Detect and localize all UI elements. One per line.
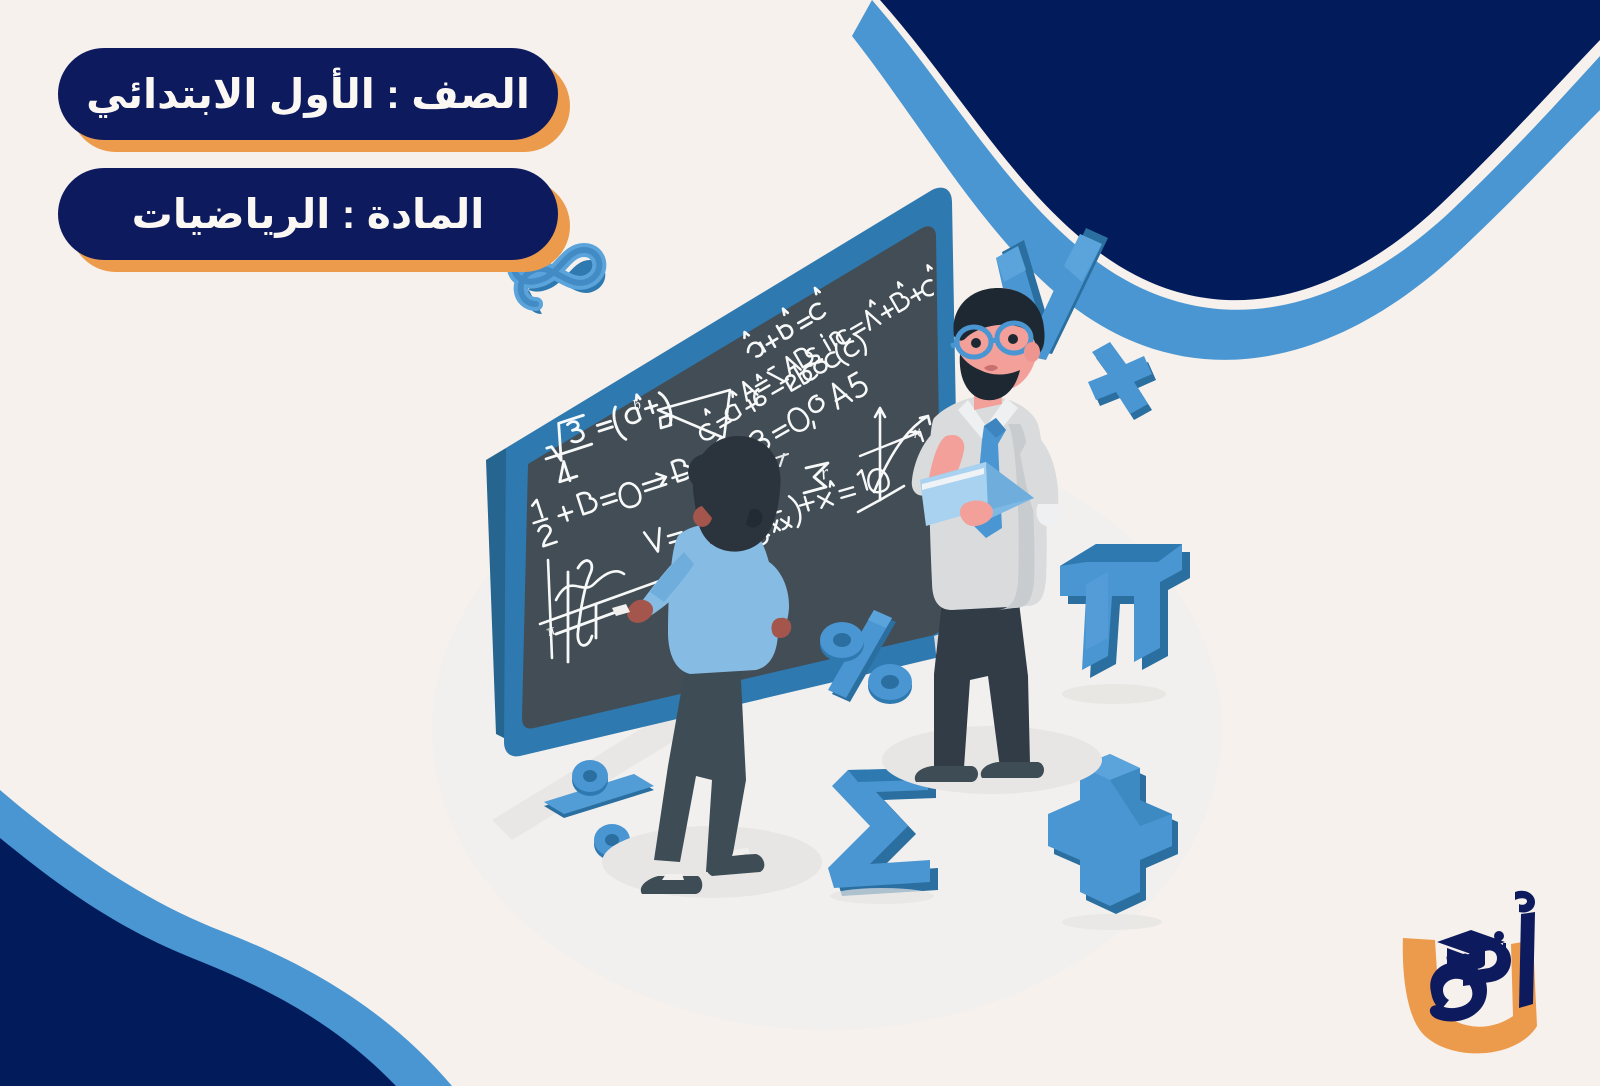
logo-alef-stroke — [1519, 912, 1535, 1008]
poster-root: b r x — [0, 0, 1600, 1086]
ufuq-logo[interactable] — [1375, 880, 1560, 1060]
subject-badge-label: المادة : الرياضيات — [132, 190, 485, 238]
sigma-symbol — [828, 768, 938, 904]
subject-badge[interactable]: المادة : الرياضيات — [58, 168, 558, 260]
grade-badge-label: الصف : الأول الابتدائي — [86, 70, 530, 118]
subject-badge-body: المادة : الرياضيات — [58, 168, 558, 260]
grade-badge[interactable]: الصف : الأول الابتدائي — [58, 48, 558, 140]
logo-hamza-mark — [1515, 891, 1535, 913]
grade-badge-body: الصف : الأول الابتدائي — [58, 48, 558, 140]
badge-stack: الصف : الأول الابتدائي المادة : الرياضيا… — [58, 48, 558, 288]
pi-symbol — [1060, 544, 1190, 704]
